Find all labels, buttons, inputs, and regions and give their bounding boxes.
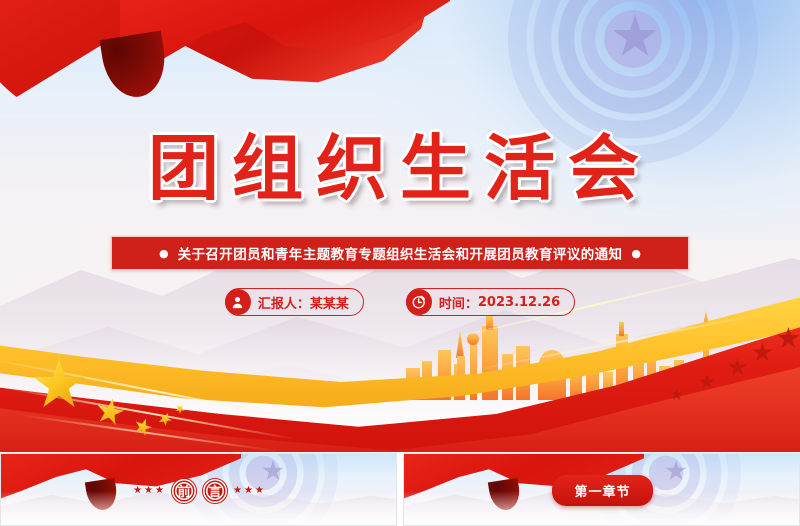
chapter-badge: 第一章节 [552, 475, 652, 506]
presentation-canvas: 团组织生活会 ● 关于召开团员和青年主题教育专题组织生活会和开展团员教育评议的通… [0, 0, 800, 526]
bullet-right-icon: ● [622, 248, 650, 259]
thumbnail-chapter-one[interactable]: 第一章节 [403, 453, 800, 526]
thumbnail-preface[interactable]: ★★★ 前 言 ★★★ [0, 453, 397, 526]
chapter-title-group: 第一章节 [404, 454, 800, 526]
person-icon [225, 289, 251, 315]
subtitle-banner: ● 关于召开团员和青年主题教育专题组织生活会和开展团员教育评议的通知 ● [111, 236, 689, 270]
thumbnail-strip: ★★★ 前 言 ★★★ 第一章节 [0, 453, 800, 526]
main-slide[interactable]: 团组织生活会 ● 关于召开团员和青年主题教育专题组织生活会和开展团员教育评议的通… [0, 0, 800, 452]
presenter-value: 某某某 [310, 293, 349, 312]
presenter-label: 汇报人： [258, 293, 310, 312]
clock-icon [406, 289, 432, 315]
date-value: 2023.12.26 [478, 295, 560, 310]
seal-char-right: 言 [202, 478, 228, 504]
stars-right: ★★★ [233, 485, 266, 496]
preface-title-group: ★★★ 前 言 ★★★ [1, 454, 397, 526]
bullet-left-icon: ● [150, 248, 178, 259]
date-label: 时间： [439, 293, 478, 312]
seal-char-left: 前 [171, 478, 197, 504]
stars-left: ★★★ [133, 485, 166, 496]
meta-row: 汇报人： 某某某 时间： 2023.12.26 [0, 288, 800, 316]
page-title: 团组织生活会 [0, 112, 800, 214]
subtitle-text: 关于召开团员和青年主题教育专题组织生活会和开展团员教育评议的通知 [178, 243, 623, 263]
date-badge[interactable]: 时间： 2023.12.26 [406, 288, 575, 316]
presenter-badge[interactable]: 汇报人： 某某某 [225, 288, 364, 316]
flag-curl-icon [100, 31, 171, 102]
